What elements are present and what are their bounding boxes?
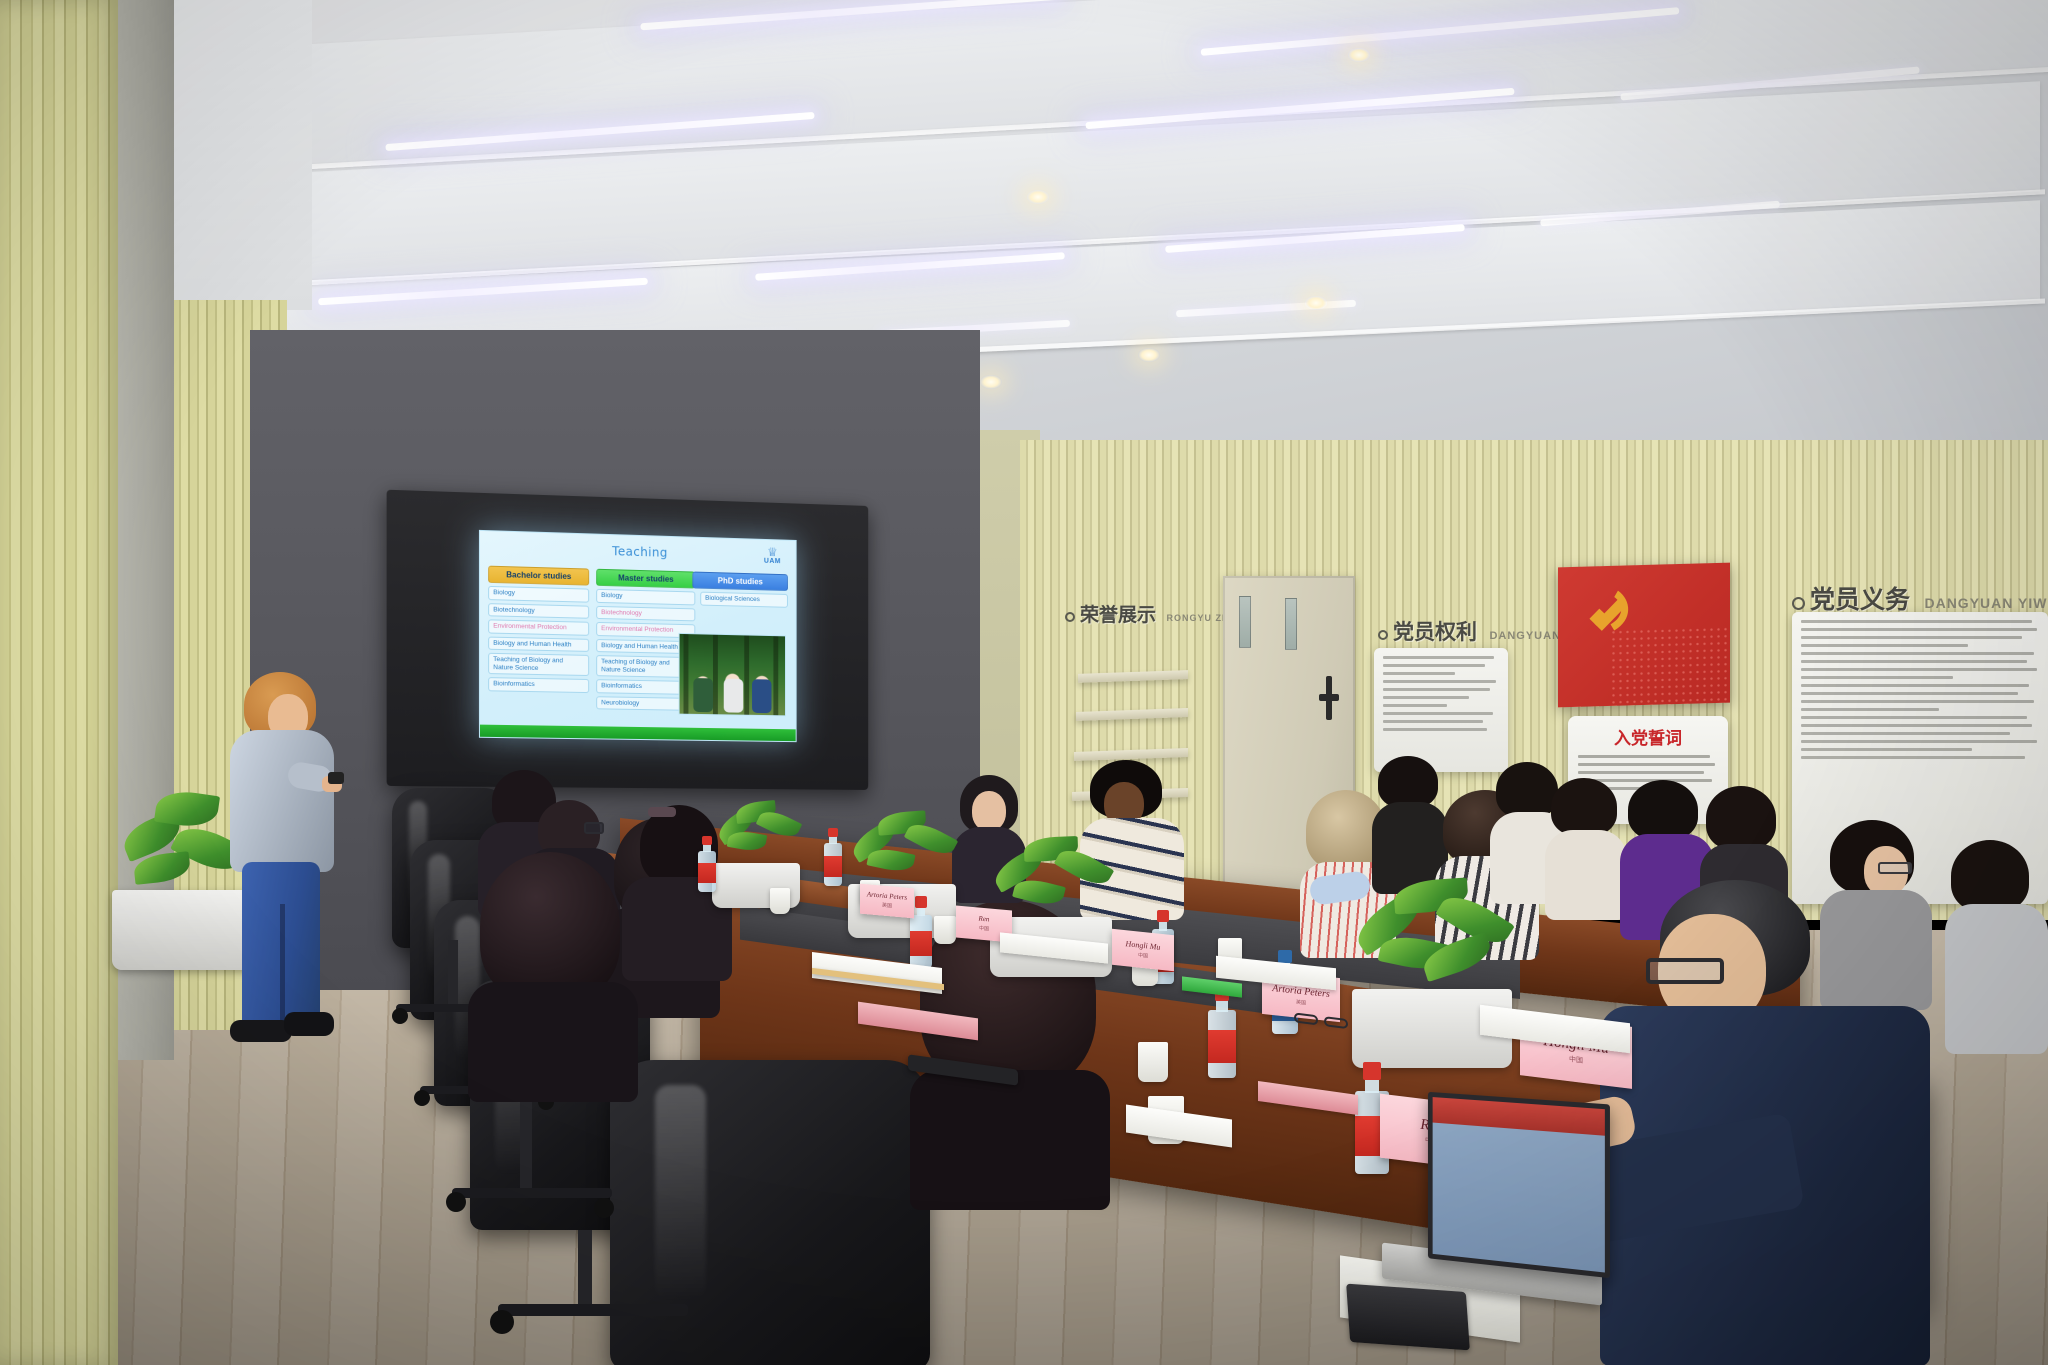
chair-post [578,1230,592,1310]
column-header: Master studies [596,569,695,589]
slide-column-phd: PhD studies Biological Sciences [692,572,788,608]
sign-chinese-text: 荣誉展示 [1080,604,1156,626]
presenter-shoe [284,1012,334,1036]
wall-slat-panel-left [0,0,118,1365]
ceiling-downlight [1138,348,1160,362]
smartphone[interactable] [1346,1284,1470,1351]
laptop-screen[interactable] [1428,1092,1610,1278]
circle-icon [1792,597,1805,610]
sign-pinyin-text: DANGYUAN YIWU [1924,595,2048,611]
circle-icon [1378,630,1388,640]
attendee-torso [468,982,638,1102]
presenter-leg-seam [280,904,285,1028]
name-card-name: Hongli Mu [1126,940,1161,952]
presenter-torso [230,730,334,872]
photo-person [693,678,713,712]
eyeglasses-icon [1646,958,1724,984]
chair-caster [490,1310,514,1334]
presenter [222,672,342,1052]
attendee-head [972,791,1006,831]
uam-logo: ♕ UAM [761,547,784,573]
circle-icon [1065,612,1075,622]
paper-cup[interactable] [1138,1042,1168,1082]
chair-post [448,940,458,1010]
door-window [1285,598,1297,650]
name-card-sub: 英国 [882,902,892,910]
conference-room-scene: Teaching ♕ UAM Bachelor studies Biology … [0,0,2048,1365]
name-card-sub: 英国 [1296,998,1306,1006]
party-flag-board [1558,563,1730,708]
eyeglasses-icon [1878,862,1912,874]
column-header: Bachelor studies [488,566,589,586]
door-window [1239,596,1251,648]
ceiling-downlight [980,375,1002,389]
photo-person [724,679,744,713]
water-bottle[interactable] [1208,986,1236,1078]
column-item: Biology [596,589,695,605]
attendee-torso [910,1070,1110,1210]
column-item: Bioinformatics [488,677,589,692]
chair-base [452,1188,612,1198]
column-item: Biotechnology [488,603,589,619]
chair-caster [414,1090,430,1106]
laptop-toolbar [1433,1097,1605,1135]
party-rights-board [1374,648,1508,772]
slide-photo [679,633,786,716]
name-card-name: Ren [979,916,990,924]
name-card-sub: 中国 [1569,1054,1583,1066]
water-bottle[interactable] [698,836,716,892]
chair-caster [594,1198,614,1218]
slide-column-bachelor: Bachelor studies Biology Biotechnology E… [488,566,589,693]
chair-base [498,1304,688,1316]
ceiling-downlight [1348,48,1370,62]
attendee-hair [480,852,620,1002]
sign-chinese-text: 党员义务 [1810,585,1910,614]
hammer-sickle-icon [1580,585,1646,649]
column-item: Biology and Human Health [488,636,589,652]
chair-caster [392,1008,408,1024]
attendee-hair [1951,840,2029,912]
attendee-foreground-laptop-user [1600,880,1930,1365]
hair-clip [648,807,676,817]
attendee-hair [1706,786,1776,850]
presentation-slide: Teaching ♕ UAM Bachelor studies Biology … [479,530,797,742]
attendee-torso [1945,904,2048,1054]
name-card-sub: 中国 [979,925,989,933]
photo-person [752,679,771,713]
attendee-hair [1628,780,1698,840]
ceiling-downlight [1027,190,1049,204]
name-card: Hongli Mu 中国 [1112,929,1174,972]
chair-caster [446,1192,466,1212]
column-item: Environmental Protection [488,619,589,635]
presenter-shoe [230,1020,292,1042]
potted-plant-large [1352,880,1512,1068]
column-item: Biology [488,586,589,602]
name-card: Artoria Peters 英国 [860,884,914,919]
door-handle-bar[interactable] [1319,694,1339,701]
name-card-sub: 中国 [1138,951,1148,959]
name-card-face: Hongli Mu 中国 [1112,929,1174,972]
column-item: Biotechnology [596,605,695,621]
attendee-hair [1551,778,1617,836]
presentation-clicker[interactable] [328,772,344,784]
ceiling-downlight [1305,296,1327,310]
attendee-hair [1378,756,1438,808]
sign-party-duties: 党员义务 DANGYUAN YIWU [1792,580,2048,616]
eagle-icon: ♕ [761,547,784,559]
slide-title: Teaching [480,540,796,564]
name-card-name: Artoria Peters [867,891,907,902]
column-item: Teaching of Biology and Nature Science [488,653,589,676]
oath-title: 入党誓词 [1568,724,1728,749]
paper-cup[interactable] [934,916,956,944]
sign-chinese-text: 党员权利 [1393,620,1477,644]
paper-cup[interactable] [770,888,790,914]
column-item: Biological Sciences [700,592,788,608]
office-chair-foreground[interactable] [610,1060,930,1365]
name-card-face: Artoria Peters 英国 [860,884,914,919]
uam-logo-text: UAM [761,558,784,566]
attendee [1945,840,2048,1040]
water-bottle[interactable] [824,828,842,886]
column-header: PhD studies [692,572,788,592]
chair-post [520,1102,532,1194]
attendee [468,852,638,1082]
